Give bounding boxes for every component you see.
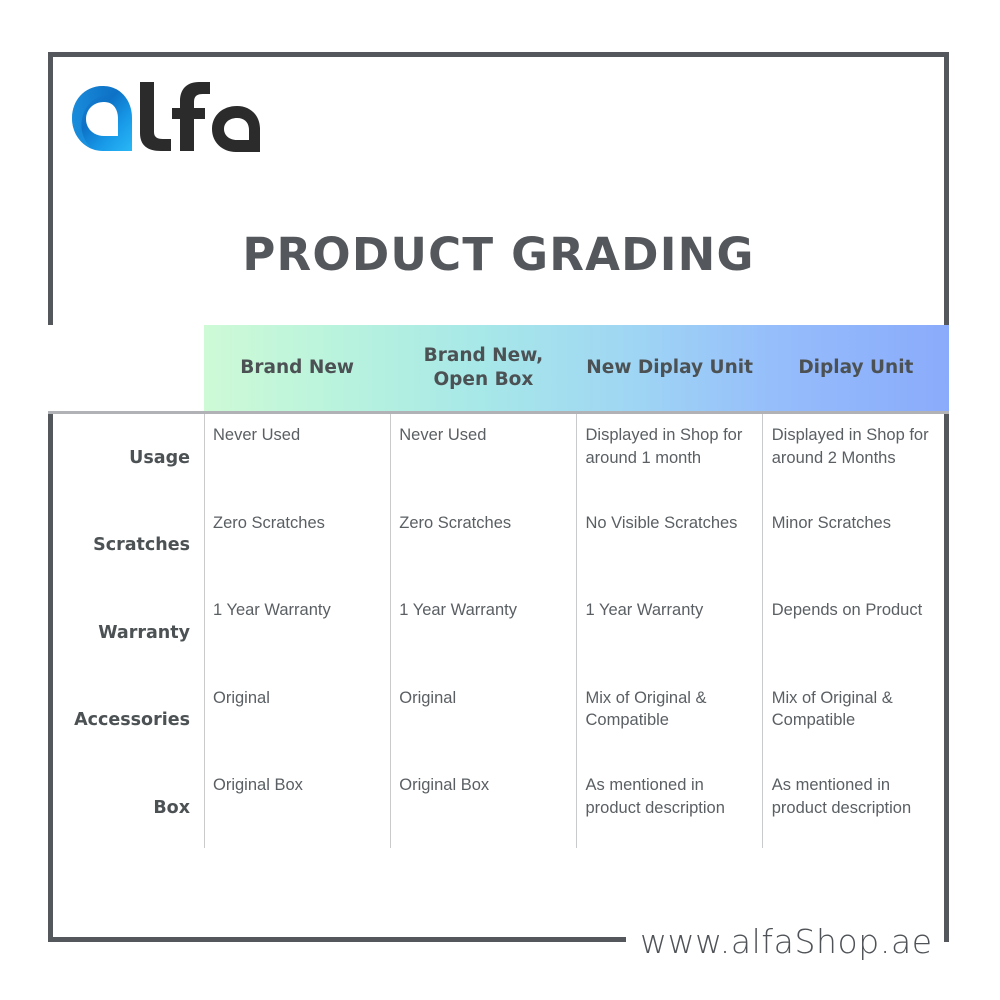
logo-letter-l	[140, 82, 171, 151]
cell-box-open-box: Original Box	[390, 764, 576, 852]
row-label-usage: Usage	[48, 414, 204, 502]
cell-scratches-open-box: Zero Scratches	[390, 502, 576, 590]
cell-scratches-brand-new: Zero Scratches	[204, 502, 390, 590]
cell-usage-display: Displayed in Shop for around 2 Months	[763, 414, 949, 502]
column-divider-3	[576, 414, 577, 848]
table-row: Warranty 1 Year Warranty 1 Year Warranty…	[48, 589, 949, 677]
cell-scratches-display: Minor Scratches	[763, 502, 949, 590]
column-header-display-unit: Diplay Unit	[763, 325, 949, 411]
table-row: Accessories Original Original Mix of Ori…	[48, 677, 949, 765]
alfa-logo	[70, 80, 270, 160]
row-label-box: Box	[48, 764, 204, 852]
logo-letter-a	[212, 106, 260, 152]
row-label-scratches: Scratches	[48, 502, 204, 590]
footer-website-url[interactable]: www.alfaShop.ae	[640, 922, 933, 961]
cell-accessories-display: Mix of Original & Compatible	[763, 677, 949, 765]
cell-box-brand-new: Original Box	[204, 764, 390, 852]
cell-accessories-brand-new: Original	[204, 677, 390, 765]
grading-table: Brand New Brand New,Open Box New Diplay …	[48, 325, 949, 852]
grading-table-header-row: Brand New Brand New,Open Box New Diplay …	[48, 325, 949, 411]
cell-box-new-display: As mentioned in product description	[577, 764, 763, 852]
cell-accessories-open-box: Original	[390, 677, 576, 765]
column-divider-2	[390, 414, 391, 848]
frame-border-bottom	[48, 937, 626, 942]
grading-table-body: Usage Never Used Never Used Displayed in…	[48, 414, 949, 852]
header-gradient-band: Brand New Brand New,Open Box New Diplay …	[204, 325, 949, 411]
column-header-new-display-unit: New Diplay Unit	[577, 325, 763, 411]
logo-letter-f	[172, 82, 210, 151]
row-label-accessories: Accessories	[48, 677, 204, 765]
cell-warranty-open-box: 1 Year Warranty	[390, 589, 576, 677]
table-row: Box Original Box Original Box As mention…	[48, 764, 949, 852]
header-corner-cell	[48, 325, 204, 411]
product-grading-infographic: PRODUCT GRADING Brand New Brand New,Open…	[0, 0, 1000, 1000]
cell-box-display: As mentioned in product description	[763, 764, 949, 852]
cell-accessories-new-display: Mix of Original & Compatible	[577, 677, 763, 765]
cell-usage-brand-new: Never Used	[204, 414, 390, 502]
column-divider-4	[762, 414, 763, 848]
table-row: Scratches Zero Scratches Zero Scratches …	[48, 502, 949, 590]
table-row: Usage Never Used Never Used Displayed in…	[48, 414, 949, 502]
cell-usage-new-display: Displayed in Shop for around 1 month	[577, 414, 763, 502]
column-divider-1	[204, 414, 205, 848]
page-title: PRODUCT GRADING	[48, 228, 949, 281]
cell-warranty-brand-new: 1 Year Warranty	[204, 589, 390, 677]
column-header-brand-new-open-box: Brand New,Open Box	[390, 325, 576, 411]
cell-usage-open-box: Never Used	[390, 414, 576, 502]
cell-warranty-display: Depends on Product	[763, 589, 949, 677]
row-label-warranty: Warranty	[48, 589, 204, 677]
cell-scratches-new-display: No Visible Scratches	[577, 502, 763, 590]
frame-border-top	[48, 52, 949, 57]
cell-warranty-new-display: 1 Year Warranty	[577, 589, 763, 677]
column-header-brand-new: Brand New	[204, 325, 390, 411]
logo-a-mark	[72, 86, 132, 151]
